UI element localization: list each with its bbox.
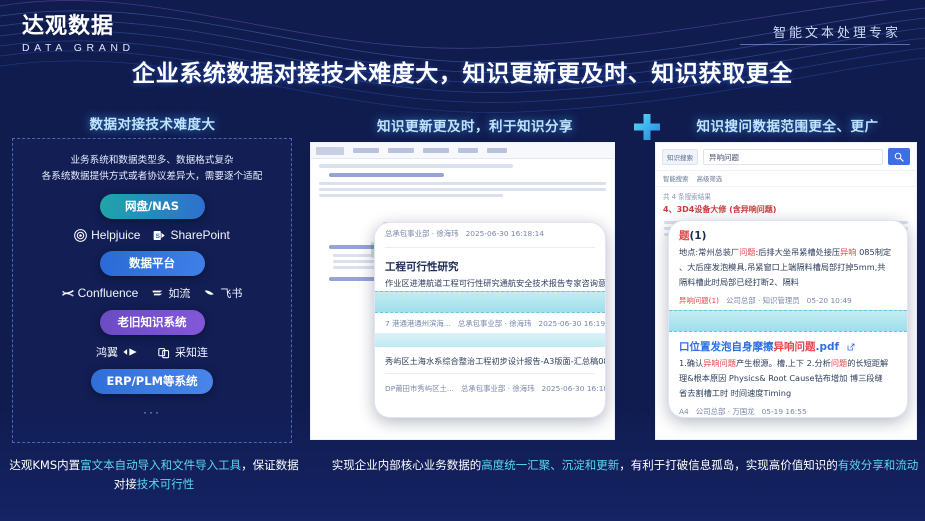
callout-doc-text: 作业区进港航道工程可行性研究通航安全技术报告专家咨询意见.pdf 南通港通州 — [375, 276, 605, 291]
svg-text:S: S — [156, 233, 161, 240]
nav-item-home[interactable] — [353, 148, 379, 153]
hongyi-arrow-icon — [122, 346, 144, 358]
snippet-part-a: 地点:常州总装厂 — [679, 247, 739, 257]
callout-dept-1: 总承包事业部 · 徐海玮 — [385, 228, 459, 239]
blur-line — [319, 194, 503, 197]
caption-left-run-0: 达观KMS内置 — [9, 458, 80, 472]
caizhilian-icon — [157, 346, 171, 359]
snippet-highlight-noise: 异响 — [840, 247, 856, 257]
caption-right-run-0: 实现企业内部核心业务数据的 — [332, 458, 482, 472]
pill-erp-plm[interactable]: ERP/PLM等系统 — [91, 369, 213, 394]
snippet-part-c: 085制定 — [857, 247, 892, 257]
result-count: 共 4 条搜索结果 — [656, 187, 916, 202]
callout-doc-ref: 7 港通港通州滨海... — [385, 318, 451, 329]
pill-netdisk-nas[interactable]: 网盘/NAS — [100, 194, 205, 219]
pill-data-platform[interactable]: 数据平台 — [100, 251, 205, 276]
search-icon — [894, 152, 904, 162]
filter-row: 智能搜索 高级筛选 — [656, 171, 916, 187]
desc-line-1: 业务系统和数据类型多、数据格式复杂 — [13, 153, 291, 169]
meta-dept-1: 公司总部 · 知识管理员 — [726, 295, 800, 306]
snippet4-hl2: 问题 — [831, 358, 847, 368]
highlight-band-secondary — [375, 333, 605, 347]
knowledge-update-callout: 总承包事业部 · 徐海玮 2025-06-30 16:18:14 工程可行性研究… — [374, 222, 606, 418]
nav-item-portal[interactable] — [388, 148, 414, 153]
nav-item-workbench[interactable] — [458, 148, 478, 153]
search-meta-1: 异响问题(1) 公司总部 · 知识管理员 05-20 10:49 — [669, 290, 907, 310]
search-snippet-6: 省去割槽工时 时间速度Timing — [669, 386, 907, 401]
feishu-icon — [203, 287, 216, 299]
callout-time-2: 2025-06-30 16:18:08 — [542, 384, 605, 393]
brand-row-2: Confluence 如流 飞书 — [13, 285, 291, 301]
search-snippet-1: 地点:常州总装厂问题:后排大坐吊紧槽处接压异响 085制定 — [669, 245, 907, 260]
brand-caizhilian: 采知连 — [157, 344, 208, 360]
snippet4-c: 的长短距解 — [847, 358, 888, 368]
snippet-highlight-problem: 问题 — [739, 247, 755, 257]
search-result-heading: 题(1) — [669, 221, 907, 245]
callout-meta-band: 7 港通港通州滨海... 总承包事业部 · 徐海玮 2025-06-30 16:… — [375, 313, 605, 333]
highlight-band — [669, 310, 907, 332]
heading-highlight: 题 — [679, 230, 690, 242]
filter-advanced[interactable]: 高级筛选 — [697, 174, 723, 183]
callout-meta-bottom: DP莆田市秀屿区土... 总承包事业部 · 徐海玮 2025-06-30 16:… — [375, 378, 605, 398]
search-input[interactable]: 异响问题 — [703, 149, 883, 165]
logo-text-cn: 达观数据 — [22, 14, 135, 40]
blur-line — [319, 188, 606, 191]
search-button[interactable] — [888, 148, 910, 165]
brand-caizhilian-label: 采知连 — [175, 344, 208, 360]
search-bar: 知识搜索 异响问题 — [656, 143, 916, 171]
brand-confluence-label: Confluence — [78, 286, 139, 300]
meta-tag-2: A4 — [679, 407, 689, 416]
brand-ruliu-label: 如流 — [168, 285, 190, 301]
doc-title-highlight: 异响问题 — [774, 341, 816, 353]
callout-doc-ref-2: DP莆田市秀屿区土... — [385, 383, 454, 394]
search-snippet-3: 隔料槽此时局部已经打断2、隔料 — [669, 275, 907, 290]
filter-smart-search[interactable]: 智能搜索 — [663, 174, 689, 183]
knowledge-search-callout: 题(1) 地点:常州总装厂问题:后排大坐吊紧槽处接压异响 085制定 、大后座发… — [668, 220, 908, 418]
doc-title-prefix: 口位置发泡自身摩擦 — [679, 341, 774, 353]
column-heading-left: 数据对接技术难度大 — [10, 113, 295, 133]
blur-paragraph — [319, 182, 606, 197]
brand-confluence: Confluence — [62, 286, 139, 300]
brand-hongyi-label: 鸿翼 — [96, 344, 118, 360]
callout-time-1: 2025-06-30 16:18:14 — [466, 229, 545, 238]
blur-line — [319, 182, 606, 185]
brand-hongyi: 鸿翼 — [96, 344, 144, 360]
callout-meta-top: 总承包事业部 · 徐海玮 2025-06-30 16:18:14 — [375, 223, 605, 243]
meta-dept-2: 公司总部 · 万国龙 — [696, 406, 755, 417]
left-systems-panel: 业务系统和数据类型多、数据格式复杂 各系统数据提供方式或者协议差异大，需要逐个适… — [12, 138, 292, 443]
screenshot-topbar — [311, 143, 614, 159]
helpjuice-icon — [74, 229, 87, 242]
ruliu-icon — [151, 287, 164, 299]
brand-sharepoint-label: SharePoint — [170, 228, 229, 242]
search-snippet-5: 理&根本原因 Physics& Root Cause钻布增加 博三段缝 — [669, 371, 907, 386]
brand-ruliu: 如流 — [151, 285, 190, 301]
meta-time-2: 05-19 16:55 — [762, 407, 807, 416]
brand-sharepoint: S SharePoint — [153, 228, 229, 242]
column-heading-middle: 知识更新更及时，利于知识分享 — [330, 115, 620, 135]
divider — [385, 247, 595, 248]
page-title: 企业系统数据对接技术难度大，知识更新更及时、知识获取更全 — [0, 54, 925, 88]
callout-doc-title[interactable]: 工程可行性研究 — [375, 252, 605, 276]
external-link-icon[interactable] — [847, 343, 855, 351]
callout-time-band: 2025-06-30 16:19:11 — [538, 319, 605, 328]
snippet4-hl1: 异响问题 — [703, 358, 736, 368]
caption-left-run-1: 富文本自动导入和文件导入工具 — [80, 458, 241, 472]
search-snippet-4: 1.确认异响问题产生根源。槽,上下 2.分析问题的长短距解 — [669, 356, 907, 371]
blur-line — [329, 173, 444, 177]
caption-left: 达观KMS内置富文本自动导入和文件导入工具，保证数据对接技术可行性 — [8, 456, 300, 494]
caption-right: 实现企业内部核心业务数据的高度统一汇聚、沉淀和更新，有利于打破信息孤岛，实现高价… — [330, 456, 920, 475]
desc-line-2: 各系统数据提供方式或者协议差异大，需要逐个适配 — [13, 169, 291, 185]
highlight-band — [375, 291, 605, 313]
blur-line — [319, 164, 513, 168]
search-meta-2: A4 公司总部 · 万国龙 05-19 16:55 — [669, 401, 907, 418]
brand-feishu: 飞书 — [203, 285, 242, 301]
plus-icon — [632, 112, 662, 142]
callout-dept-2: 总承包事业部 · 徐海玮 — [461, 383, 535, 394]
search-snippet-2: 、大后座发泡模具,吊紧窗口上端隔料槽局部打掉5mm,共 — [669, 260, 907, 275]
brand-helpjuice: Helpjuice — [74, 228, 140, 242]
caption-right-run-2: ，有利于打破信息孤岛，实现高价值知识的 — [619, 458, 838, 472]
heading-suffix: (1) — [690, 230, 707, 242]
brand-helpjuice-label: Helpjuice — [91, 228, 140, 242]
brand-logo: 达观数据 DATA GRAND — [22, 14, 135, 54]
left-panel-description: 业务系统和数据类型多、数据格式复杂 各系统数据提供方式或者协议差异大，需要逐个适… — [13, 153, 291, 185]
caption-left-run-3: 技术可行性 — [137, 477, 195, 491]
snippet4-b: 产生根源。槽,上下 2.分析 — [736, 358, 831, 368]
column-heading-right: 知识搜问数据范围更全、更广 — [655, 115, 920, 135]
logo-text-en: DATA GRAND — [22, 42, 135, 54]
nav-item-policy[interactable] — [423, 148, 449, 153]
pill-legacy-knowledge-system[interactable]: 老旧知识系统 — [100, 310, 205, 335]
brand-row-3: 鸿翼 采知连 — [13, 344, 291, 360]
divider — [385, 373, 595, 374]
callout-doc-text-2[interactable]: 秀屿区土海水系综合整治工程初步设计报告-A3版面-汇总稿0810.pdf — [375, 347, 605, 369]
search-scope-select[interactable]: 知识搜索 — [662, 149, 698, 165]
doc-title-ext: .pdf — [816, 341, 840, 353]
snippet4-a: 1.确认 — [679, 358, 703, 368]
app-logo-placeholder — [316, 147, 344, 155]
brand-row-1: Helpjuice S SharePoint — [13, 228, 291, 242]
meta-tag-1: 异响问题(1) — [679, 295, 719, 306]
confluence-icon — [62, 287, 74, 299]
sharepoint-icon: S — [153, 229, 166, 242]
search-result-doc-title[interactable]: 口位置发泡自身摩擦异响问题.pdf — [669, 332, 907, 356]
result-title[interactable]: 4、3D4设备大修 (含异响问题) — [656, 202, 916, 217]
callout-dept-band: 总承包事业部 · 徐海玮 — [458, 318, 532, 329]
nav-item-standards[interactable] — [487, 148, 507, 153]
more-ellipsis: ··· — [13, 405, 291, 419]
meta-time-1: 05-20 10:49 — [807, 296, 852, 305]
caption-right-run-1: 高度统一汇聚、沉淀和更新 — [481, 458, 619, 472]
brand-feishu-label: 飞书 — [220, 285, 242, 301]
caption-right-run-3: 有效分享和流动 — [838, 458, 919, 472]
tagline: 智能文本处理专家 — [773, 22, 901, 41]
snippet-part-b: :后排大坐吊紧槽处接压 — [755, 247, 840, 257]
